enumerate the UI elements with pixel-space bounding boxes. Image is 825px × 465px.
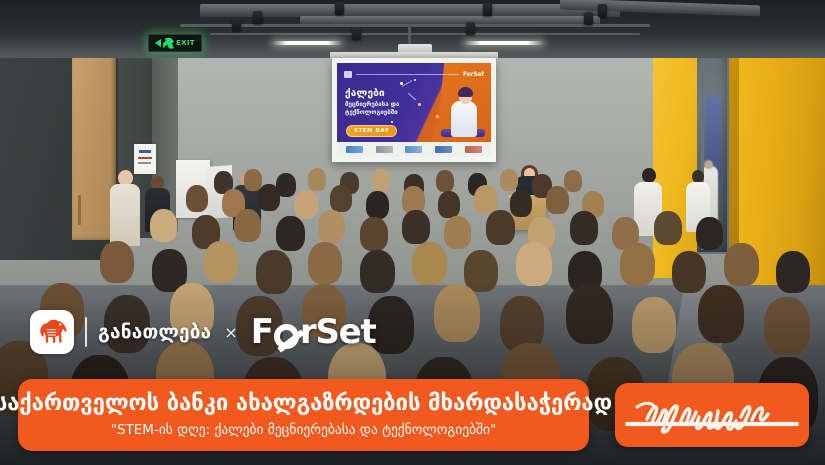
forset-slashed-o-icon xyxy=(274,324,299,349)
audience-head xyxy=(444,216,471,249)
partner-right-logo: FrSet xyxy=(251,312,376,352)
slide-dot-2 xyxy=(414,79,416,81)
audience-head xyxy=(570,211,598,245)
slide-title-main: ქალები xyxy=(345,88,431,99)
exit-running-man-icon xyxy=(163,38,174,49)
audience-head xyxy=(276,216,305,251)
audience-head xyxy=(724,243,759,286)
audience-head xyxy=(464,250,498,292)
audience-head xyxy=(308,242,342,284)
audience-head xyxy=(474,185,498,214)
slide-stem-day-badge: STEM DAY xyxy=(346,125,397,137)
audience-head xyxy=(654,211,682,245)
audience-head xyxy=(510,190,532,217)
wall-poster-line-3 xyxy=(138,162,151,164)
ceiling-spotlight-1 xyxy=(232,18,241,31)
slide-dot-5 xyxy=(436,115,439,118)
audience-head xyxy=(436,170,454,192)
audience-head xyxy=(620,243,655,286)
wall-poster-line-1 xyxy=(139,150,151,153)
audience-head xyxy=(402,210,430,244)
ceiling-pipe-b xyxy=(210,33,640,35)
audience-head xyxy=(434,284,480,342)
exit-sign: EXIT xyxy=(148,34,202,52)
audience-head xyxy=(100,241,134,283)
ceiling-pipe-a xyxy=(180,24,650,27)
slide-sponsor-footer xyxy=(337,142,491,157)
audience-head xyxy=(186,185,208,212)
audience-head xyxy=(486,210,515,245)
brand-separator: × xyxy=(224,323,237,342)
audience-head xyxy=(330,185,352,212)
audience-head xyxy=(696,217,723,250)
script-wordmark-icon xyxy=(621,387,803,443)
slide-illustration-hair xyxy=(458,87,473,97)
audience-head xyxy=(256,250,292,294)
audience-head xyxy=(234,209,261,242)
audience-head xyxy=(564,170,582,192)
slide-title-sub: მეცნიერებასა და ტექნოლოგიებში xyxy=(345,101,431,117)
exit-arrow-icon xyxy=(155,39,161,47)
headline-banner: საქართველოს ბანკი ახალგაზრდების მხარდასა… xyxy=(18,379,589,451)
audience-head xyxy=(764,297,810,355)
audience-head xyxy=(366,191,389,219)
forset-letters-rset: rSet xyxy=(300,312,376,352)
ceiling-spotlight-2 xyxy=(253,11,262,24)
presentation-slide: ForSet ქალები მეცნიერებასა და ტექნოლოგიე… xyxy=(337,63,491,157)
slide-sponsor-logo-2 xyxy=(376,146,393,153)
slide-sponsor-logo-4 xyxy=(435,146,452,153)
ceiling-spotlight-5 xyxy=(466,22,475,35)
audience-head xyxy=(438,191,460,218)
audience-head xyxy=(776,251,810,293)
audience-head xyxy=(632,297,676,353)
slide-partner-logo-icon xyxy=(344,71,352,78)
brand-divider xyxy=(85,317,87,347)
slide-illustration-body xyxy=(451,101,477,137)
ceiling-spotlight-7 xyxy=(584,12,593,25)
audience-head xyxy=(308,168,326,191)
publisher-logo-badge[interactable] xyxy=(615,383,809,447)
ceiling-spotlight-8 xyxy=(598,4,607,17)
audience-head xyxy=(500,169,518,191)
audience-head xyxy=(150,209,177,242)
audience-head xyxy=(412,242,447,285)
ceiling-spotlight-3 xyxy=(335,2,344,15)
slide-sponsor-logo-3 xyxy=(405,146,422,153)
slide-header: ForSet xyxy=(344,70,484,79)
audience-head xyxy=(318,210,345,243)
slide-dot-1 xyxy=(400,82,403,85)
exit-sign-label: EXIT xyxy=(176,40,195,47)
forset-letter-f: F xyxy=(251,312,273,352)
audience-head xyxy=(360,217,388,251)
ceiling-spotlight-4 xyxy=(352,27,361,40)
slide-header-rule xyxy=(356,74,459,75)
audience-head xyxy=(546,186,569,214)
slide-title-block: ქალები მეცნიერებასა და ტექნოლოგიებში xyxy=(345,88,431,117)
ceiling-led-strip-right xyxy=(465,41,543,45)
audience-head xyxy=(372,169,390,192)
slide-sponsor-logo-5 xyxy=(465,146,482,153)
ceiling-spotlight-6 xyxy=(483,3,492,16)
audience-head xyxy=(360,250,395,293)
audience-head xyxy=(204,241,238,283)
banner-subtitle: "STEM-ის დღე: ქალები მეცნიერებასა და ტექ… xyxy=(111,423,497,438)
wall-poster-line-2 xyxy=(138,157,152,159)
banner-headline: საქართველოს ბანკი ახალგაზრდების მხარდასა… xyxy=(0,392,612,416)
audience-head xyxy=(294,190,318,219)
ceiling-led-strip-left xyxy=(273,41,341,45)
slide-sponsor-logo-1 xyxy=(346,146,363,153)
partner-brand-bar: განათლება × FrSet xyxy=(30,306,376,358)
audience-head xyxy=(516,242,552,286)
slide-line-deco-1 xyxy=(402,80,413,87)
audience-head xyxy=(258,184,280,211)
slide-dot-4 xyxy=(391,121,393,123)
screenshot-root: EXIT ForSet xyxy=(0,0,825,465)
lion-mark-icon xyxy=(30,310,74,354)
partner-left-label: განათლება xyxy=(98,321,211,343)
slide-forset-logo: ForSet xyxy=(463,71,484,78)
audience-head xyxy=(566,284,613,344)
audience-head xyxy=(672,251,706,293)
audience-head xyxy=(698,285,744,343)
projection-screen: ForSet ქალები მეცნიერებასა და ტექნოლოგიე… xyxy=(332,58,496,162)
